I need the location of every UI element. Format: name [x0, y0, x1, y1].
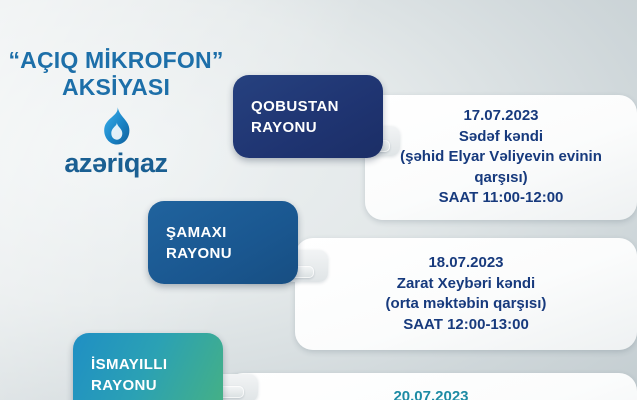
region-badge-qobustan: QOBUSTAN RAYONU — [233, 75, 383, 158]
info-card-samaxi-text: 18.07.2023 Zarat Xeybəri kəndi (orta mək… — [295, 253, 637, 335]
region-badge-qobustan-line2: RAYONU — [251, 117, 383, 138]
info-card-qobustan: 17.07.2023 Sədəf kəndi (şəhid Elyar Vəli… — [365, 95, 637, 220]
region-badge-samaxi-line2: RAYONU — [166, 243, 298, 264]
region-badge-ismayilli-line1: İSMAYILLI — [91, 354, 223, 375]
info-card-samaxi: 18.07.2023 Zarat Xeybəri kəndi (orta mək… — [295, 238, 637, 350]
bottom-fade — [0, 390, 637, 400]
region-badge-samaxi-line1: ŞAMAXI — [166, 222, 298, 243]
region-badge-samaxi: ŞAMAXI RAYONU — [148, 201, 298, 284]
region-badge-qobustan-line1: QOBUSTAN — [251, 96, 383, 117]
info-card-qobustan-text: 17.07.2023 Sədəf kəndi (şəhid Elyar Vəli… — [365, 106, 637, 209]
brand-name: azəriqaz — [0, 148, 232, 179]
flame-icon — [99, 105, 133, 145]
page-title-line1: “AÇIQ MİKROFON” — [8, 47, 223, 73]
poster-canvas: “AÇIQ MİKROFON” AKSİYASI azəriqaz — [0, 0, 637, 400]
page-title-line2: AKSİYASI — [0, 74, 232, 101]
brand-logo: azəriqaz — [0, 105, 232, 179]
